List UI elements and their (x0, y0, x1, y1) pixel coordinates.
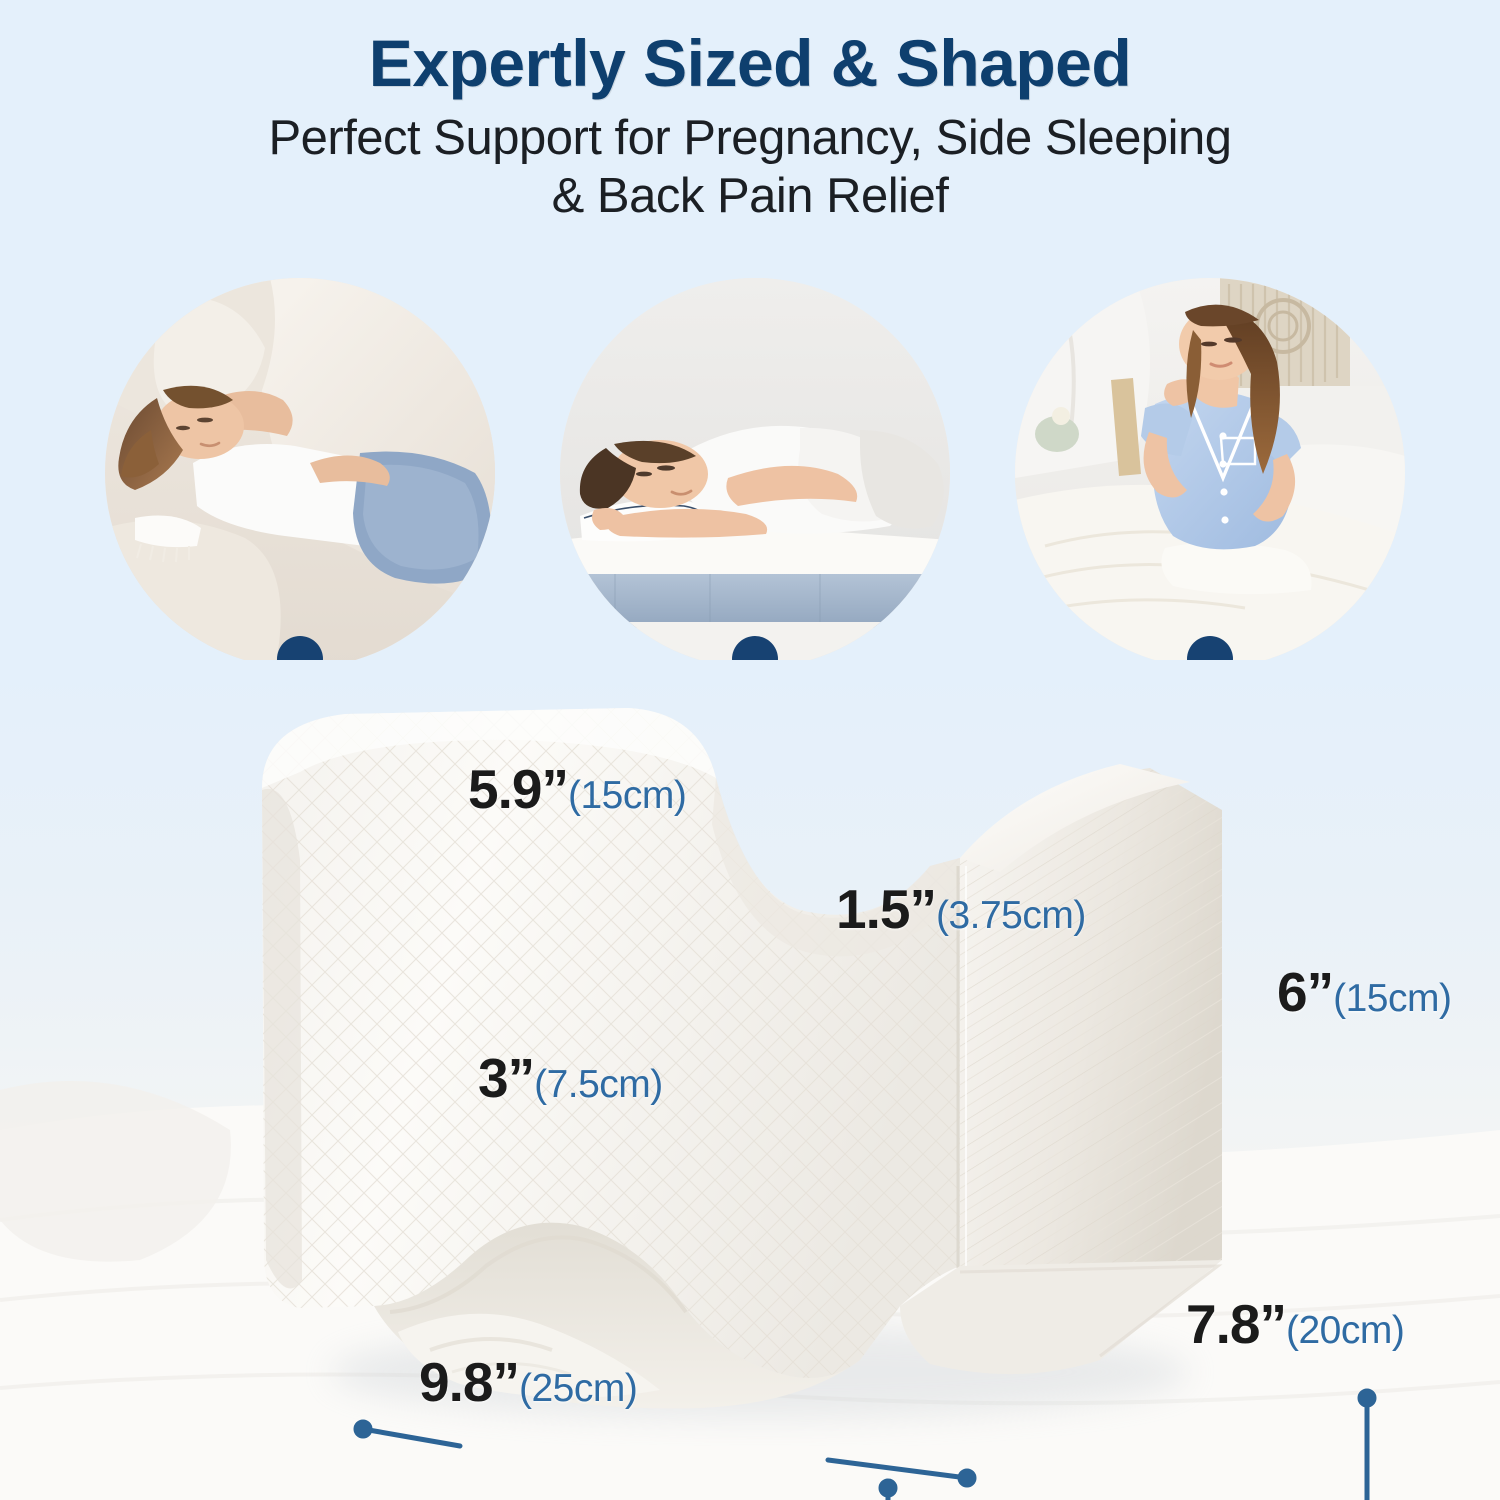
dimension-label-total-height: 6”(15cm) (1277, 960, 1451, 1024)
product-illustration (0, 660, 1500, 1500)
dimension-inches-width: 9.8” (419, 1351, 519, 1413)
dimension-metric-total-height: (15cm) (1333, 977, 1451, 1020)
dimension-label-width: 9.8”(25cm) (419, 1350, 637, 1414)
dimension-metric-left-height: (7.5cm) (534, 1063, 663, 1106)
dimension-label-top-width: 5.9”(15cm) (468, 757, 686, 821)
lifestyle-photo-side-sleeping (105, 278, 495, 668)
photo-image-1 (105, 278, 495, 668)
page-subtitle: Perfect Support for Pregnancy, Side Slee… (0, 96, 1500, 226)
dimension-inches-total-height: 6” (1277, 961, 1333, 1023)
dimension-inches-top-width: 5.9” (468, 758, 568, 820)
dimension-inches-depth: 7.8” (1186, 1293, 1286, 1355)
dimension-inches-left-height: 3” (478, 1047, 534, 1109)
dimension-metric-top-width: (15cm) (568, 774, 686, 817)
product-dimension-diagram (0, 660, 1500, 1500)
dimension-metric-depth: (20cm) (1286, 1309, 1404, 1352)
dimension-label-left-height: 3”(7.5cm) (478, 1046, 663, 1110)
header: Expertly Sized & Shaped Perfect Support … (0, 0, 1500, 260)
page-title: Expertly Sized & Shaped (0, 0, 1500, 96)
lifestyle-photo-neck-support (560, 278, 950, 668)
photo-image-3 (1015, 278, 1405, 668)
dimension-label-depth: 7.8”(20cm) (1186, 1292, 1404, 1356)
dimension-metric-notch-depth: (3.75cm) (936, 894, 1086, 937)
lifestyle-photo-back-pain (1015, 278, 1405, 668)
dimension-label-notch-depth: 1.5”(3.75cm) (836, 877, 1086, 941)
dimension-inches-notch-depth: 1.5” (836, 878, 936, 940)
subtitle-line-2: & Back Pain Relief (0, 168, 1500, 226)
dimension-metric-width: (25cm) (519, 1367, 637, 1410)
subtitle-line-1: Perfect Support for Pregnancy, Side Slee… (0, 110, 1500, 168)
photo-image-2 (560, 278, 950, 668)
